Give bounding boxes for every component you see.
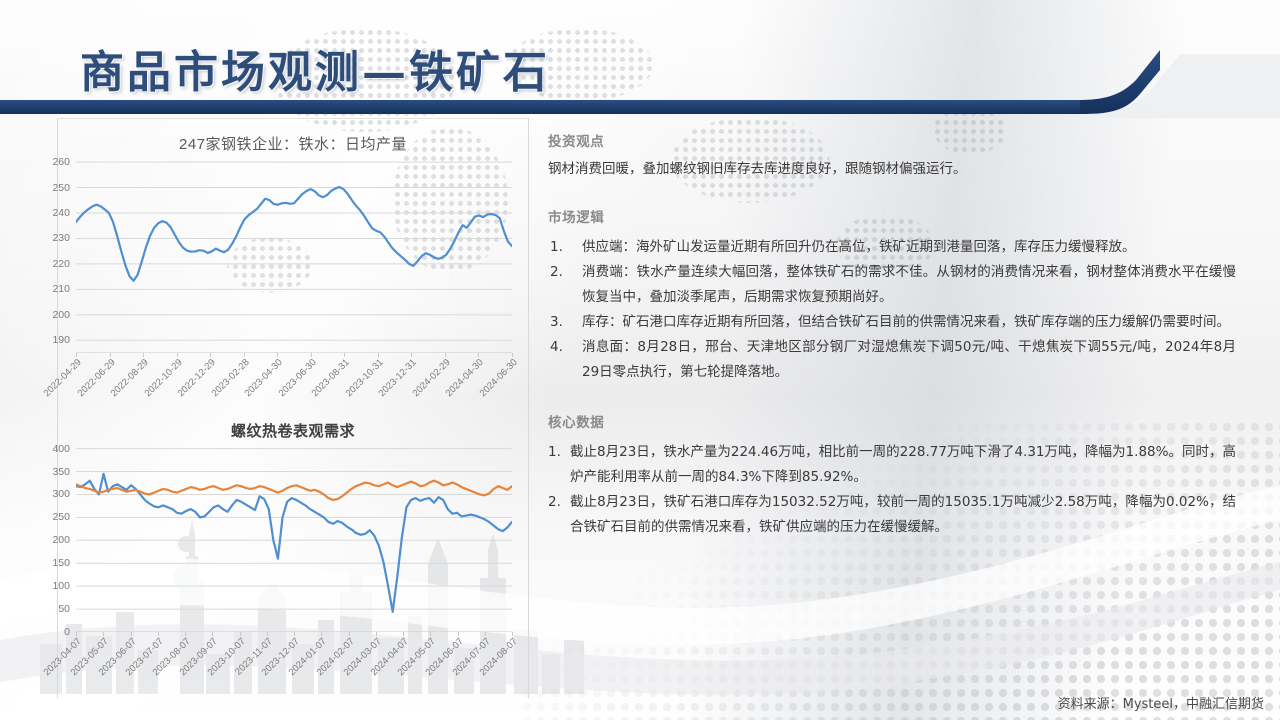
pig-iron-output-ytick: 190	[36, 334, 70, 346]
plot1-svg	[76, 157, 512, 353]
investment-view-heading: 投资观点	[548, 130, 1236, 150]
slide-root: 商品市场观测—铁矿石 247家钢铁企业：铁水：日均产量 190200210220…	[0, 0, 1280, 720]
core-data-item-text: 截止8月23日，铁矿石港口库存为15032.52万吨，较前一周的15035.1万…	[570, 494, 1236, 535]
pig-iron-output-tickmark	[244, 353, 245, 357]
pig-iron-output-tickmark	[311, 353, 312, 357]
pig-iron-output-tickmark	[445, 353, 446, 357]
rebar-hrc-apparent-demand-ytick: 50	[36, 603, 70, 615]
pig-iron-output-tickmark	[177, 353, 178, 357]
chart1-title: 247家钢铁企业：铁水：日均产量	[58, 133, 528, 154]
rebar-hrc-apparent-demand-tickmark	[131, 632, 132, 636]
pig-iron-output-series-0	[76, 187, 512, 281]
pig-iron-output-ytick: 250	[36, 182, 70, 194]
core-data-item-number: 1.	[548, 440, 561, 465]
rebar-hrc-apparent-demand-tickmark	[430, 632, 431, 636]
pig-iron-output-tickmark	[210, 353, 211, 357]
rebar-hrc-apparent-demand-tickmark	[240, 632, 241, 636]
rebar-hrc-apparent-demand-tickmark	[103, 632, 104, 636]
rebar-hrc-apparent-demand-tickmark	[76, 632, 77, 636]
rebar-hrc-apparent-demand-ytick: 250	[36, 511, 70, 523]
market-logic-list: 1.供应端：海外矿山发运量近期有所回升仍在高位，铁矿近期到港量回落，库存压力缓慢…	[548, 235, 1236, 385]
pig-iron-output-ytick: 200	[36, 309, 70, 321]
pig-iron-output-ytick: 220	[36, 258, 70, 270]
slide-header: 商品市场观测—铁矿石	[0, 0, 1280, 118]
pig-iron-output-tickmark	[411, 353, 412, 357]
rebar-hrc-apparent-demand-tickmark	[349, 632, 350, 636]
core-data-item: 1.截止8月23日，铁水产量为224.46万吨，相比前一周的228.77万吨下滑…	[548, 440, 1236, 490]
pig-iron-output-tickmark	[143, 353, 144, 357]
rebar-hrc-apparent-demand-tickmark	[321, 632, 322, 636]
market-logic-item: 4.消息面：8月28日，邢台、天津地区部分钢厂对湿熄焦炭下调50元/吨、干熄焦炭…	[548, 335, 1236, 385]
rebar-hrc-apparent-demand-tickmark	[376, 632, 377, 636]
plot2-svg	[76, 444, 512, 632]
core-data-item: 2.截止8月23日，铁矿石港口库存为15032.52万吨，较前一周的15035.…	[548, 490, 1236, 540]
pig-iron-output-ytick: 240	[36, 207, 70, 219]
spacer-2	[548, 385, 1236, 411]
pig-iron-output-tickmark	[344, 353, 345, 357]
market-logic-item-text: 消息面：8月28日，邢台、天津地区部分钢厂对湿熄焦炭下调50元/吨、干熄焦炭下调…	[582, 339, 1236, 380]
market-logic-item-number: 2.	[550, 260, 563, 285]
rebar-hrc-apparent-demand-tickmark	[212, 632, 213, 636]
chart2-plot-area: 0501001502002503003504002023-04-072023-0…	[76, 444, 512, 632]
rebar-hrc-apparent-demand-ytick: 300	[36, 488, 70, 500]
pig-iron-output-tickmark	[277, 353, 278, 357]
chart1-plot-area: 1902002102202302402502602022-04-292022-0…	[76, 157, 512, 353]
charts-column: 247家钢铁企业：铁水：日均产量 19020021022023024025026…	[57, 118, 529, 698]
market-logic-item-text: 消费端：铁水产量连续大幅回落，整体铁矿石的需求不佳。从钢材的消费情况来看，钢材整…	[582, 264, 1236, 305]
spacer-1	[548, 180, 1236, 206]
market-logic-item-number: 1.	[550, 235, 563, 260]
rebar-hrc-apparent-demand-tickmark	[267, 632, 268, 636]
chart-pig-iron-output: 247家钢铁企业：铁水：日均产量 19020021022023024025026…	[57, 118, 529, 412]
pig-iron-output-tickmark	[512, 353, 513, 357]
core-data-list: 1.截止8月23日，铁水产量为224.46万吨，相比前一周的228.77万吨下滑…	[548, 440, 1236, 540]
pig-iron-output-tickmark	[478, 353, 479, 357]
chart-rebar-hrc-demand: 螺纹热卷表观需求 0501001502002503003504002023-04…	[57, 412, 529, 698]
market-logic-item-number: 4.	[550, 335, 563, 360]
rebar-hrc-apparent-demand-ytick: 0	[36, 626, 70, 638]
pig-iron-output-tickmark	[110, 353, 111, 357]
core-data-heading: 核心数据	[548, 411, 1236, 431]
rebar-hrc-apparent-demand-tickmark	[403, 632, 404, 636]
rebar-hrc-apparent-demand-tickmark	[158, 632, 159, 636]
pig-iron-output-ytick: 230	[36, 232, 70, 244]
rebar-hrc-apparent-demand-ytick: 150	[36, 557, 70, 569]
core-data-item-text: 截止8月23日，铁水产量为224.46万吨，相比前一周的228.77万吨下滑了4…	[570, 444, 1236, 485]
rebar-hrc-apparent-demand-ytick: 350	[36, 466, 70, 478]
chart2-title: 螺纹热卷表观需求	[58, 420, 528, 441]
pig-iron-output-tickmark	[76, 353, 77, 357]
market-logic-item-number: 3.	[550, 310, 563, 335]
pig-iron-output-tickmark	[378, 353, 379, 357]
pig-iron-output-ytick: 210	[36, 283, 70, 295]
pig-iron-output-ytick: 260	[36, 156, 70, 168]
market-logic-item-text: 库存：矿石港口库存近期有所回落，但结合铁矿石目前的供需情况来看，铁矿库存端的压力…	[582, 314, 1230, 330]
investment-view-text: 钢材消费回暖，叠加螺纹钢旧库存去库进度良好，跟随钢材偏强运行。	[548, 159, 1236, 180]
market-logic-item: 2.消费端：铁水产量连续大幅回落，整体铁矿石的需求不佳。从钢材的消费情况来看，钢…	[548, 260, 1236, 310]
core-data-item-number: 2.	[548, 490, 561, 515]
rebar-hrc-apparent-demand-ytick: 400	[36, 443, 70, 455]
rebar-hrc-apparent-demand-ytick: 100	[36, 580, 70, 592]
source-note: 资料来源：Mysteel，中融汇信期货	[1058, 693, 1264, 712]
rebar-hrc-apparent-demand-tickmark	[185, 632, 186, 636]
market-logic-item: 1.供应端：海外矿山发运量近期有所回升仍在高位，铁矿近期到港量回落，库存压力缓慢…	[548, 235, 1236, 260]
page-title: 商品市场观测—铁矿石	[80, 36, 550, 100]
analysis-panel: 投资观点 钢材消费回暖，叠加螺纹钢旧库存去库进度良好，跟随钢材偏强运行。 市场逻…	[548, 130, 1236, 690]
market-logic-heading: 市场逻辑	[548, 206, 1236, 226]
market-logic-item-text: 供应端：海外矿山发运量近期有所回升仍在高位，铁矿近期到港量回落，库存压力缓慢释放…	[582, 239, 1136, 255]
rebar-hrc-apparent-demand-tickmark	[485, 632, 486, 636]
market-logic-item: 3.库存：矿石港口库存近期有所回落，但结合铁矿石目前的供需情况来看，铁矿库存端的…	[548, 310, 1236, 335]
rebar-hrc-apparent-demand-tickmark	[294, 632, 295, 636]
rebar-hrc-apparent-demand-tickmark	[458, 632, 459, 636]
rebar-hrc-apparent-demand-ytick: 200	[36, 534, 70, 546]
rebar-hrc-apparent-demand-tickmark	[512, 632, 513, 636]
